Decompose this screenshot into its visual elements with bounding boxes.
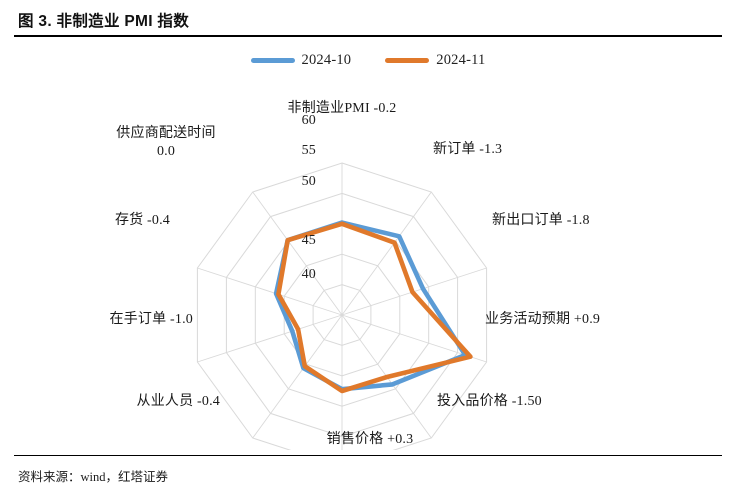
legend-swatch-2024-10 (251, 58, 295, 63)
axis-label-sales-prices: 销售价格 +0.3 (280, 431, 460, 449)
axis-label-backlog-orders: 在手订单 -1.0 (0, 311, 193, 329)
radar-chart: 60 55 50 45 40 非制造业PMI -0.2 新订单 -1.3 新出口… (0, 84, 736, 450)
chart-legend: 2024-10 2024-11 (0, 52, 736, 69)
legend-item-2024-11[interactable]: 2024-11 (385, 52, 485, 69)
axis-label-employment: 从业人员 -0.4 (30, 393, 220, 411)
legend-swatch-2024-11 (385, 58, 429, 63)
radar-spoke-7 (197, 315, 342, 362)
page-title: 图 3. 非制造业 PMI 指数 (18, 9, 189, 31)
legend-item-2024-10[interactable]: 2024-10 (251, 52, 352, 69)
figure-container: 图 3. 非制造业 PMI 指数 2024-10 2024-11 60 55 5… (0, 0, 736, 495)
axis-label-business-activity-expectation: 业务活动预期 +0.9 (485, 311, 730, 329)
axis-label-inventory: 存货 -0.4 (22, 212, 170, 230)
source-note: 资料来源：wind，红塔证券 (18, 466, 168, 485)
radial-tick-50: 50 (270, 174, 316, 190)
radar-spoke-9 (253, 192, 342, 315)
radial-tick-40: 40 (270, 267, 316, 283)
legend-label-2024-11: 2024-11 (436, 52, 485, 69)
radial-tick-55: 55 (270, 143, 316, 159)
axis-label-new-export-orders: 新出口订单 -1.8 (492, 212, 722, 230)
axis-label-input-prices: 投入品价格 -1.50 (437, 393, 667, 411)
legend-label-2024-10: 2024-10 (302, 52, 352, 69)
axis-label-pmi: 非制造业PMI -0.2 (242, 100, 442, 118)
axis-label-supplier-delivery-time: 供应商配送时间 0.0 (76, 125, 256, 160)
axis-label-new-orders: 新订单 -1.3 (433, 141, 623, 159)
title-divider (14, 35, 722, 37)
footer-divider (14, 455, 722, 456)
radial-tick-45: 45 (270, 233, 316, 249)
